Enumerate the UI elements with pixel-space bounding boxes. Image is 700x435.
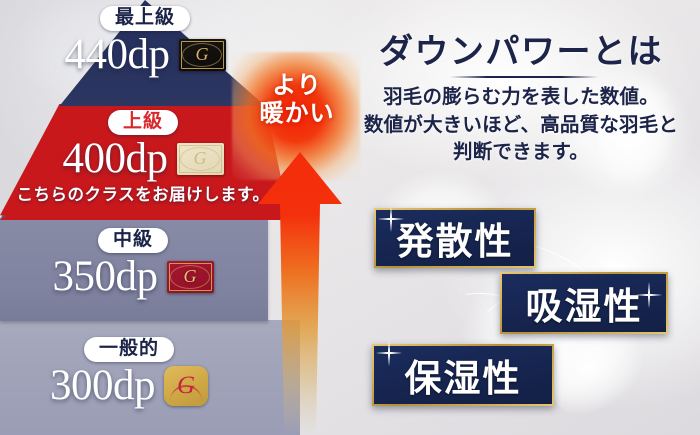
- feature-plaque-moisture-absorption: 吸湿性: [500, 272, 668, 334]
- tier-rank-label: 上級: [108, 110, 178, 135]
- feature-plaque-dissipation: 発散性: [374, 208, 536, 268]
- description-text: 羽毛の膨らむ力を表した数値。 数値が大きいほど、高品質な羽毛と 判断できます。: [346, 84, 696, 167]
- description-line-2: 数値が大きいほど、高品質な羽毛と: [346, 112, 696, 140]
- tier-rank-label: 中級: [98, 228, 168, 253]
- warmth-caption-line2: 暖かい: [238, 100, 356, 128]
- feature-label: 吸湿性: [526, 276, 643, 330]
- warmth-caption-line1: より: [238, 72, 356, 100]
- feature-label: 発散性: [397, 211, 514, 265]
- infographic-canvas: 最上級 440dp G 上級 400dp G: [0, 0, 700, 435]
- gold-swan-emblem-badge: G: [164, 366, 208, 406]
- red-gold-label-badge: G: [167, 261, 214, 293]
- black-gold-label-badge: G: [179, 39, 226, 71]
- warmth-caption: より 暖かい: [238, 72, 356, 129]
- feature-plaque-moisture-retention: 保湿性: [372, 344, 554, 406]
- feature-label: 保湿性: [405, 348, 522, 402]
- title-divider: [450, 76, 598, 78]
- tier-rank-label: 最上級: [100, 6, 190, 31]
- cream-gold-label-badge: G: [177, 143, 224, 175]
- description-line-3: 判断できます。: [346, 139, 696, 167]
- tier-content-superior: 上級 400dp G こちらのクラスをお届けします。: [12, 110, 274, 205]
- tier-value: 400dp: [63, 137, 168, 180]
- tier-content-middle: 中級 350dp G: [8, 228, 258, 298]
- tier-value: 440dp: [65, 33, 170, 76]
- tier-value: 350dp: [53, 255, 158, 298]
- tier-value: 300dp: [50, 364, 155, 407]
- description-line-1: 羽毛の膨らむ力を表した数値。: [346, 84, 696, 112]
- tier-content-standard: 一般的 300dp G: [6, 337, 252, 407]
- delivery-note: こちらのクラスをお届けします。: [12, 181, 274, 205]
- page-title: ダウンパワーとは: [350, 24, 692, 73]
- tier-rank-label: 一般的: [84, 337, 174, 362]
- tier-content-premium: 最上級 440dp G: [30, 6, 260, 76]
